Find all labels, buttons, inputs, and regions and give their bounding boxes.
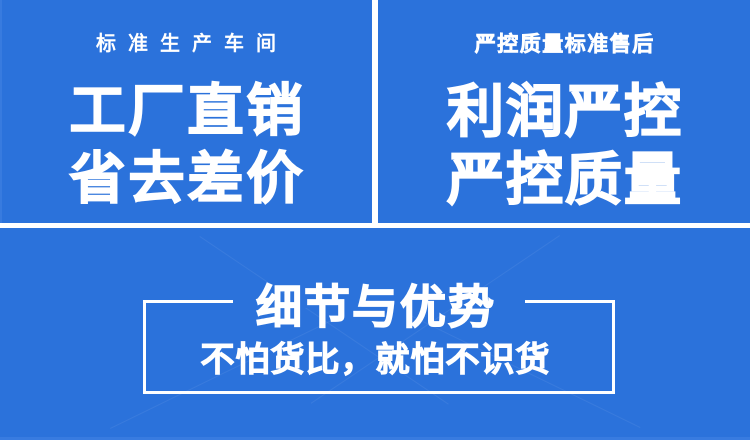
- panel-right-headline-line2: 严控质量: [378, 134, 750, 216]
- section-subtitle: 不怕货比，就怕不识货: [0, 332, 750, 381]
- panel-factory-direct: 标准生产车间 工厂直销 省去差价: [0, 0, 372, 223]
- panel-quality-control: 严控质量标准售后 利润严控 严控质量: [378, 0, 750, 223]
- section-title: 细节与优势: [0, 271, 750, 337]
- promo-banner: 标准生产车间 工厂直销 省去差价 严控质量标准售后 利润严控 严控质量 细节与优…: [0, 0, 750, 440]
- panel-left-headline-line2: 省去差价: [0, 134, 372, 215]
- panel-right-kicker: 严控质量标准售后: [378, 28, 750, 58]
- panel-details-advantages: 细节与优势 不怕货比，就怕不识货: [0, 228, 750, 440]
- panel-left-kicker: 标准生产车间: [0, 27, 372, 56]
